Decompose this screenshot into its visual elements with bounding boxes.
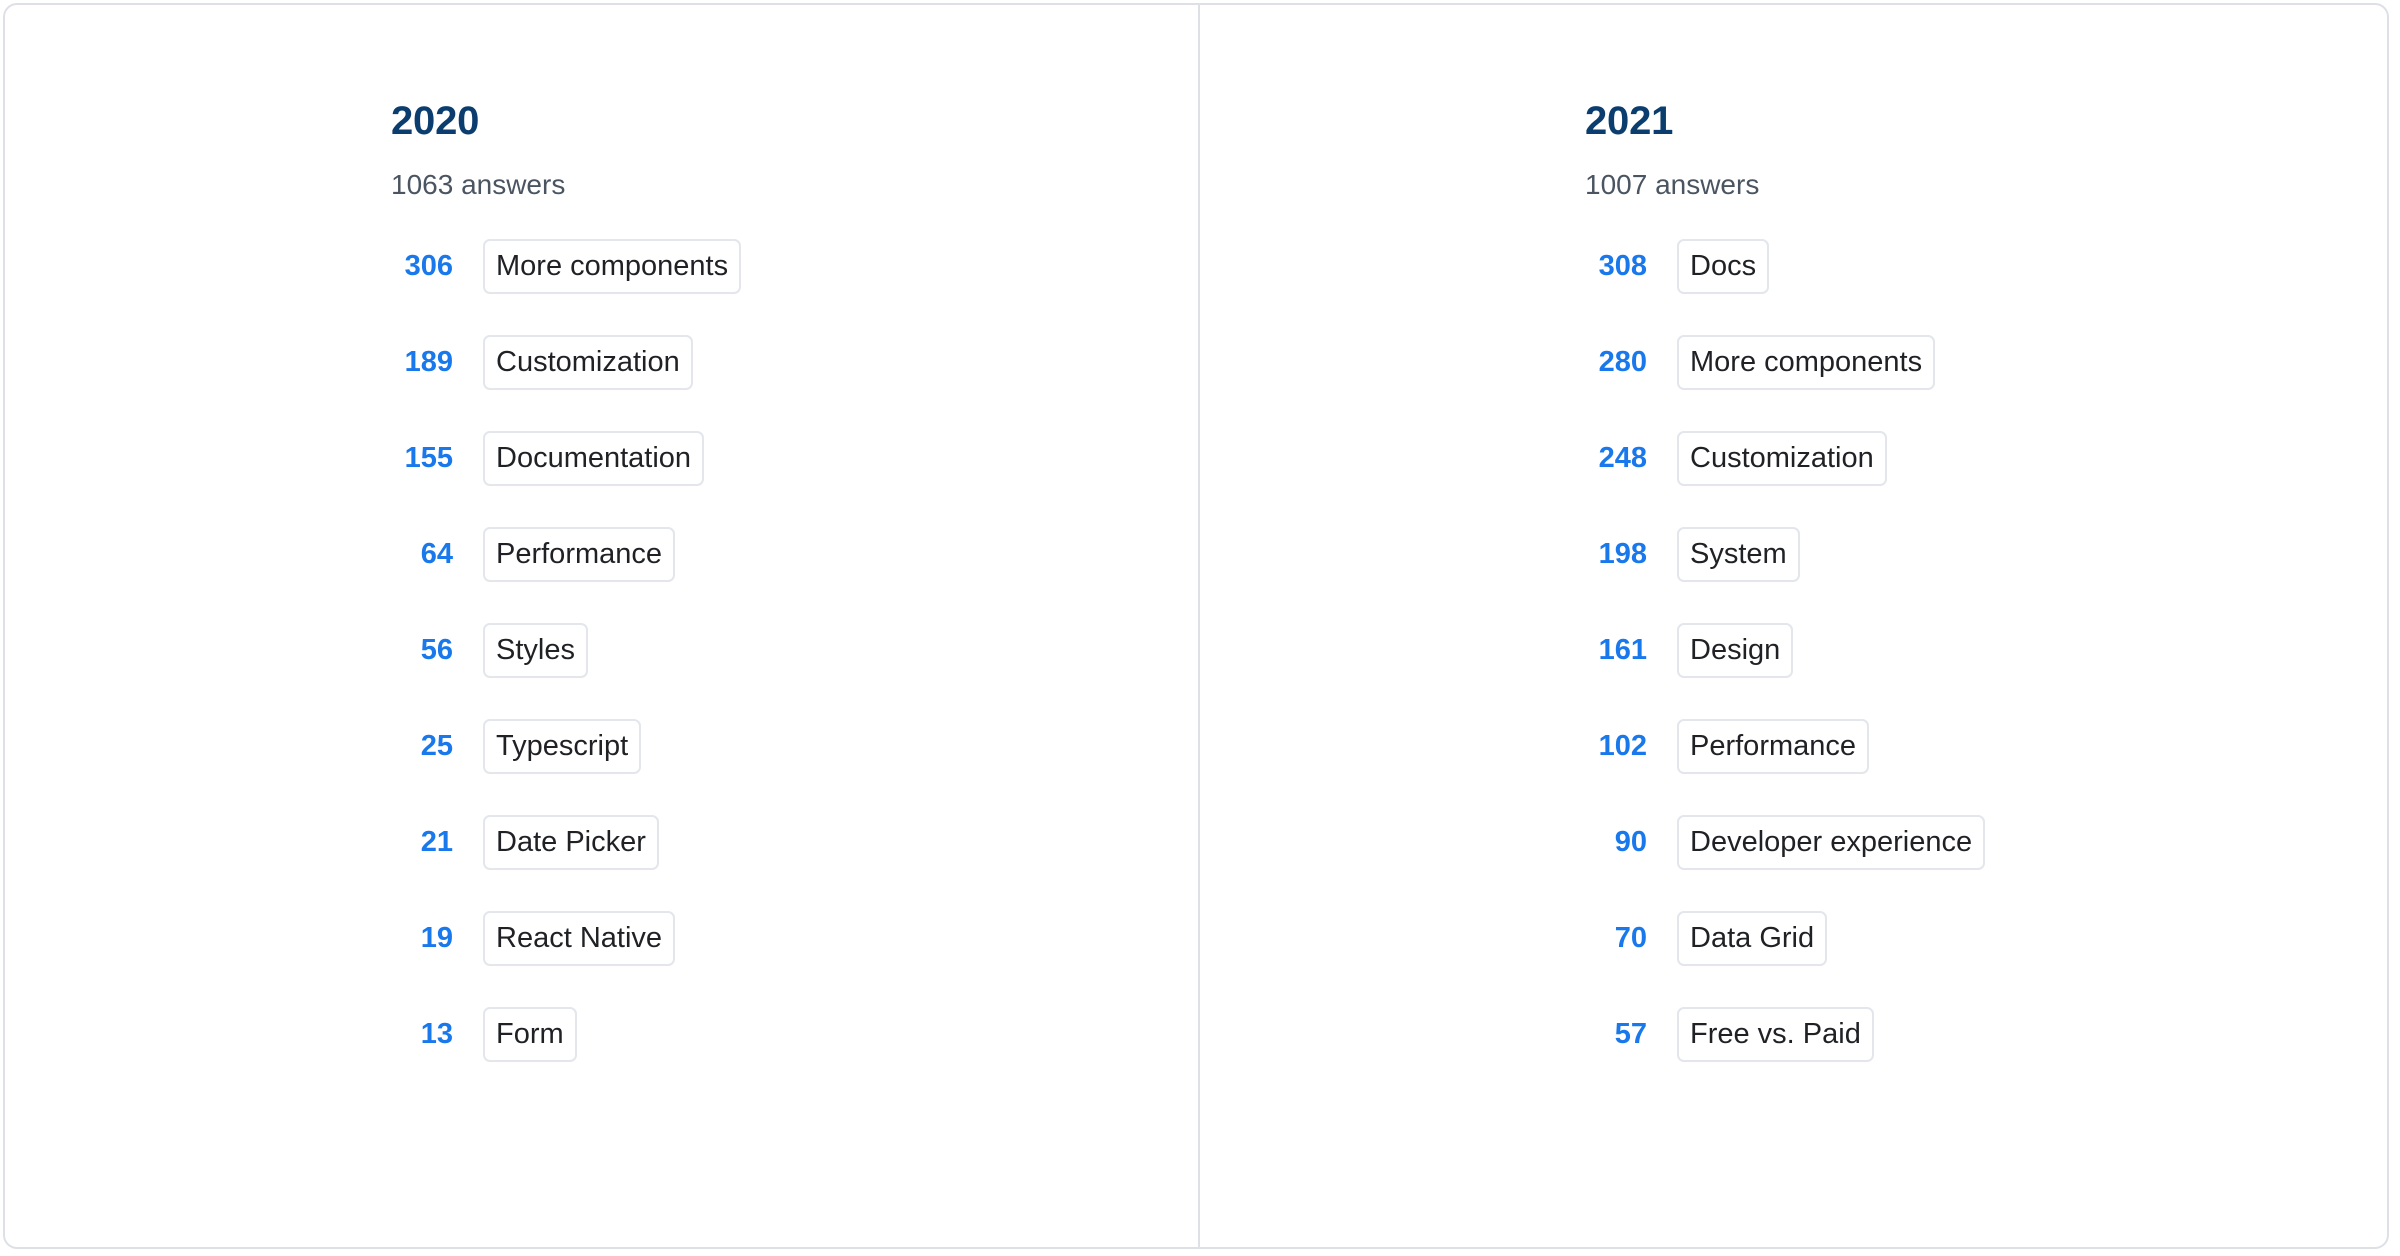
result-row: 161 Design xyxy=(1585,623,2387,678)
result-row: 19 React Native xyxy=(391,911,1198,966)
result-label-chip[interactable]: Performance xyxy=(1677,719,1869,774)
result-row: 308 Docs xyxy=(1585,239,2387,294)
result-count: 56 xyxy=(391,636,453,665)
result-label-chip[interactable]: Free vs. Paid xyxy=(1677,1007,1874,1062)
result-row: 155 Documentation xyxy=(391,431,1198,486)
result-label-chip[interactable]: Customization xyxy=(483,335,693,390)
result-count: 308 xyxy=(1585,252,1647,281)
panel-content-2021: 2021 1007 answers 308 Docs 280 More comp… xyxy=(1200,5,2387,1062)
result-count: 70 xyxy=(1585,924,1647,953)
results-list-2020: 306 More components 189 Customization 15… xyxy=(391,239,1198,1062)
panel-content-2020: 2020 1063 answers 306 More components 18… xyxy=(5,5,1198,1062)
year-heading-2020: 2020 xyxy=(391,101,1198,141)
result-row: 189 Customization xyxy=(391,335,1198,390)
result-label-chip[interactable]: Date Picker xyxy=(483,815,659,870)
result-count: 57 xyxy=(1585,1020,1647,1049)
result-row: 64 Performance xyxy=(391,527,1198,582)
result-count: 25 xyxy=(391,732,453,761)
result-row: 56 Styles xyxy=(391,623,1198,678)
result-count: 161 xyxy=(1585,636,1647,665)
result-label-chip[interactable]: Performance xyxy=(483,527,675,582)
result-count: 13 xyxy=(391,1020,453,1049)
result-label-chip[interactable]: Data Grid xyxy=(1677,911,1827,966)
result-label-chip[interactable]: Design xyxy=(1677,623,1793,678)
result-count: 19 xyxy=(391,924,453,953)
result-count: 280 xyxy=(1585,348,1647,377)
result-label-chip[interactable]: More components xyxy=(483,239,741,294)
result-row: 306 More components xyxy=(391,239,1198,294)
screenshot-viewport: 2020 1063 answers 306 More components 18… xyxy=(0,0,2400,1256)
result-count: 90 xyxy=(1585,828,1647,857)
result-count: 64 xyxy=(391,540,453,569)
year-panel-2020: 2020 1063 answers 306 More components 18… xyxy=(5,5,1200,1247)
result-row: 198 System xyxy=(1585,527,2387,582)
result-row: 57 Free vs. Paid xyxy=(1585,1007,2387,1062)
result-count: 306 xyxy=(391,252,453,281)
result-row: 13 Form xyxy=(391,1007,1198,1062)
result-row: 90 Developer experience xyxy=(1585,815,2387,870)
answers-count-2020: 1063 answers xyxy=(391,171,1198,199)
result-label-chip[interactable]: Docs xyxy=(1677,239,1769,294)
result-label-chip[interactable]: Documentation xyxy=(483,431,704,486)
result-row: 21 Date Picker xyxy=(391,815,1198,870)
results-list-2021: 308 Docs 280 More components 248 Customi… xyxy=(1585,239,2387,1062)
year-heading-2021: 2021 xyxy=(1585,101,2387,141)
result-count: 248 xyxy=(1585,444,1647,473)
result-label-chip[interactable]: Developer experience xyxy=(1677,815,1985,870)
year-panel-2021: 2021 1007 answers 308 Docs 280 More comp… xyxy=(1200,5,2387,1247)
survey-results-card: 2020 1063 answers 306 More components 18… xyxy=(3,3,2389,1249)
result-row: 248 Customization xyxy=(1585,431,2387,486)
result-label-chip[interactable]: Typescript xyxy=(483,719,641,774)
result-row: 280 More components xyxy=(1585,335,2387,390)
result-label-chip[interactable]: System xyxy=(1677,527,1800,582)
result-row: 70 Data Grid xyxy=(1585,911,2387,966)
result-label-chip[interactable]: Styles xyxy=(483,623,588,678)
result-count: 189 xyxy=(391,348,453,377)
result-label-chip[interactable]: Form xyxy=(483,1007,577,1062)
result-row: 102 Performance xyxy=(1585,719,2387,774)
result-label-chip[interactable]: React Native xyxy=(483,911,675,966)
answers-count-2021: 1007 answers xyxy=(1585,171,2387,199)
result-label-chip[interactable]: Customization xyxy=(1677,431,1887,486)
result-count: 102 xyxy=(1585,732,1647,761)
result-row: 25 Typescript xyxy=(391,719,1198,774)
result-count: 198 xyxy=(1585,540,1647,569)
result-count: 21 xyxy=(391,828,453,857)
result-count: 155 xyxy=(391,444,453,473)
result-label-chip[interactable]: More components xyxy=(1677,335,1935,390)
